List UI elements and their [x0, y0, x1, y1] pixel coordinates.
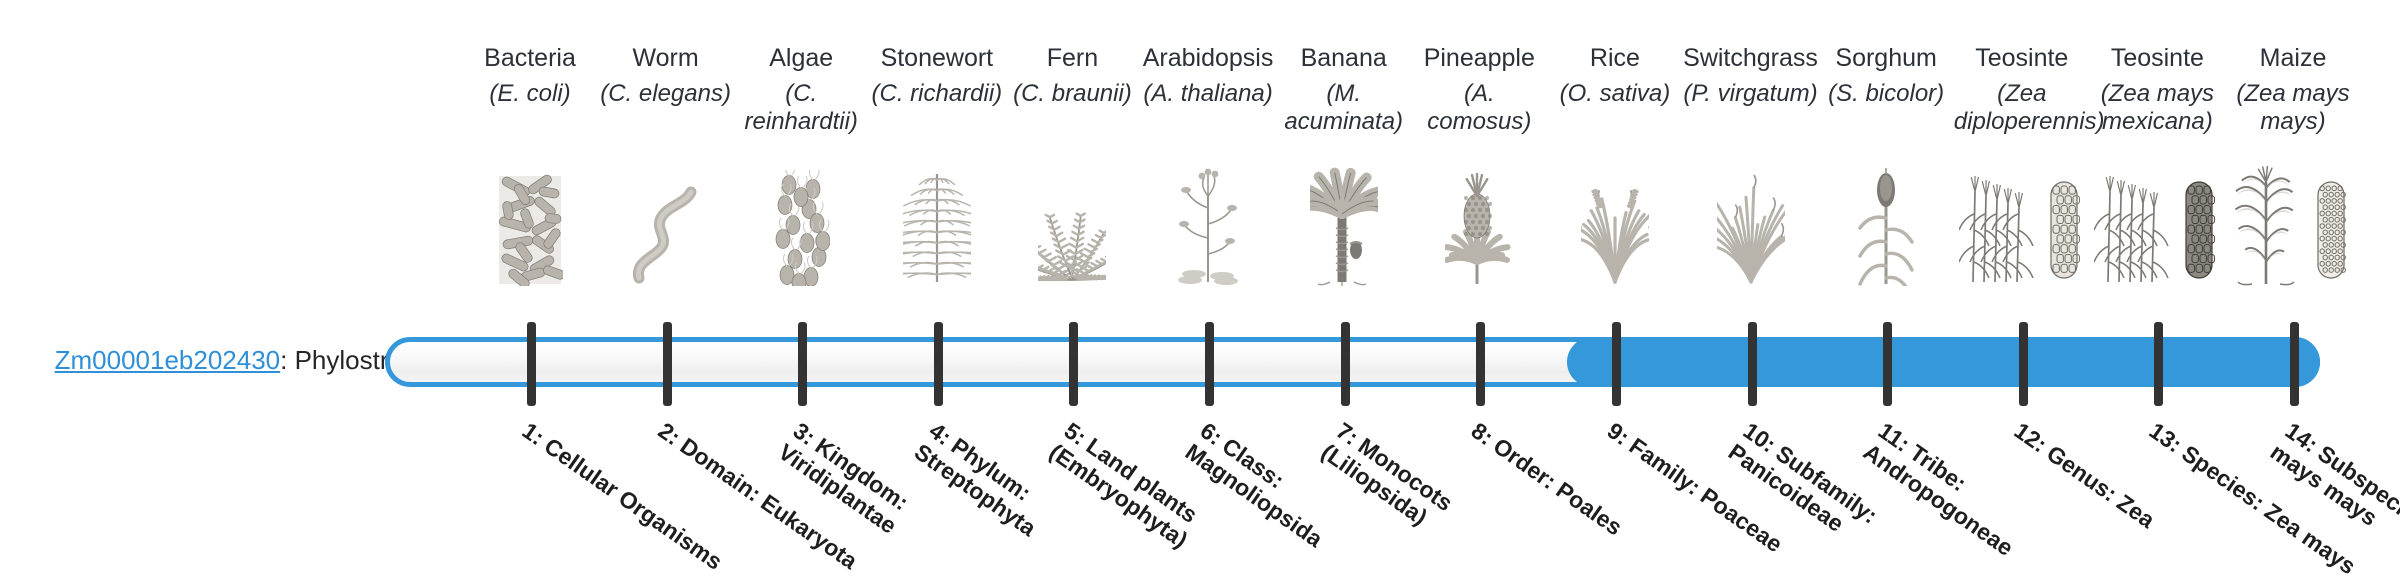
banana-icon: [1276, 168, 1412, 286]
algae-icon: [733, 168, 869, 286]
species-scientific-name: (A. comosus): [1411, 80, 1547, 135]
maize-icon: [2225, 168, 2361, 286]
worm-icon: [598, 168, 734, 286]
pineapple-icon: [1411, 168, 1547, 286]
phylogeny-columns: Bacteria(E. coli)1: Cellular OrganismsWo…: [0, 0, 2400, 580]
phylostratum-tick[interactable]: [2154, 322, 2163, 406]
phylogeny-column: Arabidopsis(A. thaliana)6: Class: Magnol…: [1140, 0, 1276, 580]
species-scientific-name: (C. richardii): [869, 80, 1005, 108]
phylostratum-tick[interactable]: [1612, 322, 1621, 406]
phylogeny-column: Banana(M. acuminata)7: Monocots (Liliops…: [1276, 0, 1412, 580]
species-common-name: Worm: [598, 44, 734, 73]
bacteria-icon: [462, 168, 598, 286]
phylogeny-column: Teosinte(Zea diploperennis)12: Genus: Ze…: [1954, 0, 2090, 580]
teosinte-diploperennis-icon: [1954, 168, 2090, 286]
phylostratum-figure: Zm00001eb202430: Phylostratum 9 Bacteria…: [0, 0, 2400, 580]
species-scientific-name: (C. elegans): [598, 80, 734, 108]
species-scientific-name: (O. sativa): [1547, 80, 1683, 108]
phylogeny-column: Worm(C. elegans)2: Domain: Eukaryota: [598, 0, 734, 580]
species-scientific-name: (Zea diploperennis): [1954, 80, 2090, 135]
phylostratum-tick[interactable]: [934, 322, 943, 406]
phylostratum-tick[interactable]: [1883, 322, 1892, 406]
species-common-name: Switchgrass: [1683, 44, 1819, 73]
species-scientific-name: (M. acuminata): [1276, 80, 1412, 135]
phylogeny-column: Pineapple(A. comosus)8: Order: Poales: [1411, 0, 1547, 580]
species-common-name: Maize: [2225, 44, 2361, 73]
stonewort-icon: [869, 168, 1005, 286]
species-scientific-name: (Zea mays mexicana): [2089, 80, 2225, 135]
fern-icon: [1004, 168, 1140, 286]
phylostratum-tick[interactable]: [2019, 322, 2028, 406]
phylogeny-column: Switchgrass(P. virgatum)10: Subfamily: P…: [1683, 0, 1819, 580]
species-scientific-name: (C. reinhardtii): [733, 80, 869, 135]
switchgrass-icon: [1683, 168, 1819, 286]
phylogeny-column: Fern(C. braunii)5: Land plants (Embryoph…: [1004, 0, 1140, 580]
teosinte-mexicana-icon: [2089, 168, 2225, 286]
species-scientific-name: (A. thaliana): [1140, 80, 1276, 108]
species-common-name: Rice: [1547, 44, 1683, 73]
phylostratum-tick[interactable]: [527, 322, 536, 406]
arabidopsis-icon: [1140, 168, 1276, 286]
species-scientific-name: (P. virgatum): [1683, 80, 1819, 108]
phylogeny-column: Rice(O. sativa)9: Family: Poaceae: [1547, 0, 1683, 580]
phylogeny-column: Algae(C. reinhardtii)3: Kingdom: Viridip…: [733, 0, 869, 580]
phylostratum-tick[interactable]: [1476, 322, 1485, 406]
species-common-name: Sorghum: [1818, 44, 1954, 73]
phylostratum-tick[interactable]: [1205, 322, 1214, 406]
phylostratum-rank-label: 14: Subspecies: Zea mays mays: [2265, 418, 2400, 580]
phylogeny-column: Maize(Zea mays mays)14: Subspecies: Zea …: [2225, 0, 2361, 580]
phylostratum-tick[interactable]: [2290, 322, 2299, 406]
phylostratum-tick[interactable]: [1341, 322, 1350, 406]
species-common-name: Fern: [1004, 44, 1140, 73]
rice-icon: [1547, 168, 1683, 286]
phylostratum-bar-fill: [1567, 337, 2320, 387]
species-common-name: Bacteria: [462, 44, 598, 73]
phylostratum-tick[interactable]: [663, 322, 672, 406]
species-common-name: Banana: [1276, 44, 1412, 73]
species-common-name: Stonewort: [869, 44, 1005, 73]
species-scientific-name: (E. coli): [462, 80, 598, 108]
phylostratum-tick[interactable]: [1748, 322, 1757, 406]
species-scientific-name: (C. braunii): [1004, 80, 1140, 108]
phylogeny-column: Bacteria(E. coli)1: Cellular Organisms: [462, 0, 598, 580]
species-scientific-name: (Zea mays mays): [2225, 80, 2361, 135]
species-scientific-name: (S. bicolor): [1818, 80, 1954, 108]
species-common-name: Teosinte: [1954, 44, 2090, 73]
phylogeny-column: Stonewort(C. richardii)4: Phylum: Strept…: [869, 0, 1005, 580]
phylogeny-column: Sorghum(S. bicolor)11: Tribe: Andropogon…: [1818, 0, 1954, 580]
phylostratum-tick[interactable]: [1069, 322, 1078, 406]
species-common-name: Arabidopsis: [1140, 44, 1276, 73]
species-common-name: Algae: [733, 44, 869, 73]
sorghum-icon: [1818, 168, 1954, 286]
phylogeny-column: Teosinte(Zea mays mexicana)13: Species: …: [2089, 0, 2225, 580]
phylostratum-tick[interactable]: [798, 322, 807, 406]
species-common-name: Teosinte: [2089, 44, 2225, 73]
species-common-name: Pineapple: [1411, 44, 1547, 73]
